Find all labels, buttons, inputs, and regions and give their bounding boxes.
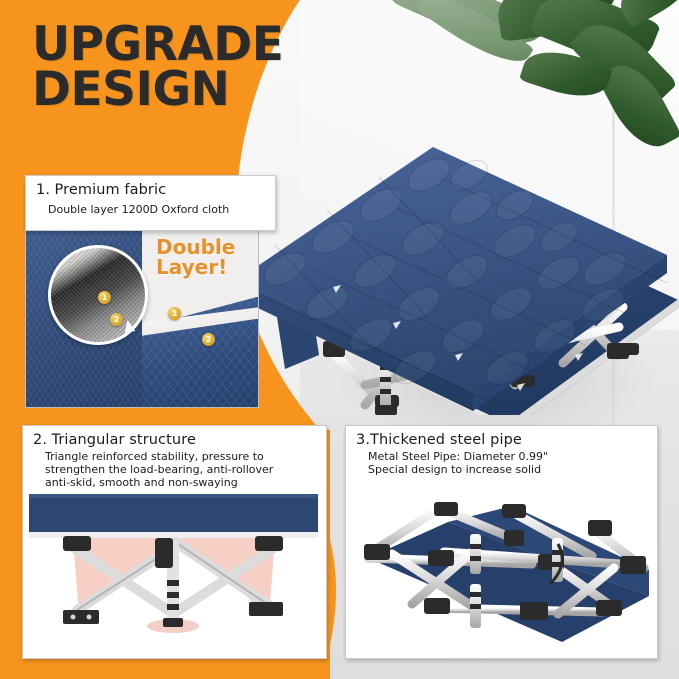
panel-3-image [352,492,649,652]
panel-1-title: Premium fabric [55,182,167,198]
panel-3-subtitle-line-2: Special design to increase solid [368,464,649,477]
panel-2-header: 2. Triangular structure Triangle reinfor… [23,426,326,496]
feature-panel-2[interactable]: 2. Triangular structure Triangle reinfor… [22,425,327,659]
badge-2-bubble: 2 [110,313,123,326]
panel-2-image [29,492,318,652]
badge-1-right: 1 [168,307,181,320]
panel-2-title: Triangular structure [52,432,196,448]
badge-1-bubble: 1 [98,291,111,304]
badge-2-right: 2 [202,333,215,346]
panel-2-subtitle-line-2: strengthen the load-bearing, anti-rollov… [45,464,318,477]
panel-3-subtitle: Metal Steel Pipe: Diameter 0.99" Special… [356,451,649,477]
feature-panel-3[interactable]: 3.Thickened steel pipe Metal Steel Pipe:… [345,425,658,659]
headline-line-1: UPGRADE [32,22,312,67]
panel-2-subtitle-line-3: anti-skid, smooth and non-swaying [45,477,318,490]
panel-1-header: 1. Premium fabric Double layer 1200D Oxf… [25,175,276,231]
page-title: UPGRADE DESIGN [32,22,312,112]
panel-3-number: 3. [356,432,370,448]
panel-1-number: 1. [36,182,50,198]
feature-panel-1[interactable]: 1. Premium fabric Double layer 1200D Oxf… [25,175,257,407]
callout-exclamation: ! [218,255,227,279]
infographic-page: UPGRADE DESIGN 1. Premium fabric Double … [0,0,679,679]
headline-line-2: DESIGN [32,67,312,112]
panel-3-title: Thickened steel pipe [370,432,522,448]
panel-2-number: 2. [33,432,47,448]
panel-1-image: Double Layer! 1 2 1 2 [25,229,259,408]
panel-1-subtitle-line-1: Double layer 1200D Oxford cloth [48,204,229,217]
panel-3-header: 3.Thickened steel pipe Metal Steel Pipe:… [346,426,657,483]
fabric-swatch-right: Double Layer! 1 2 [142,229,258,407]
callout-line-2: Layer [156,255,218,279]
double-layer-callout: Double Layer! [156,237,235,278]
panel-2-subtitle: Triangle reinforced stability, pressure … [33,451,318,490]
